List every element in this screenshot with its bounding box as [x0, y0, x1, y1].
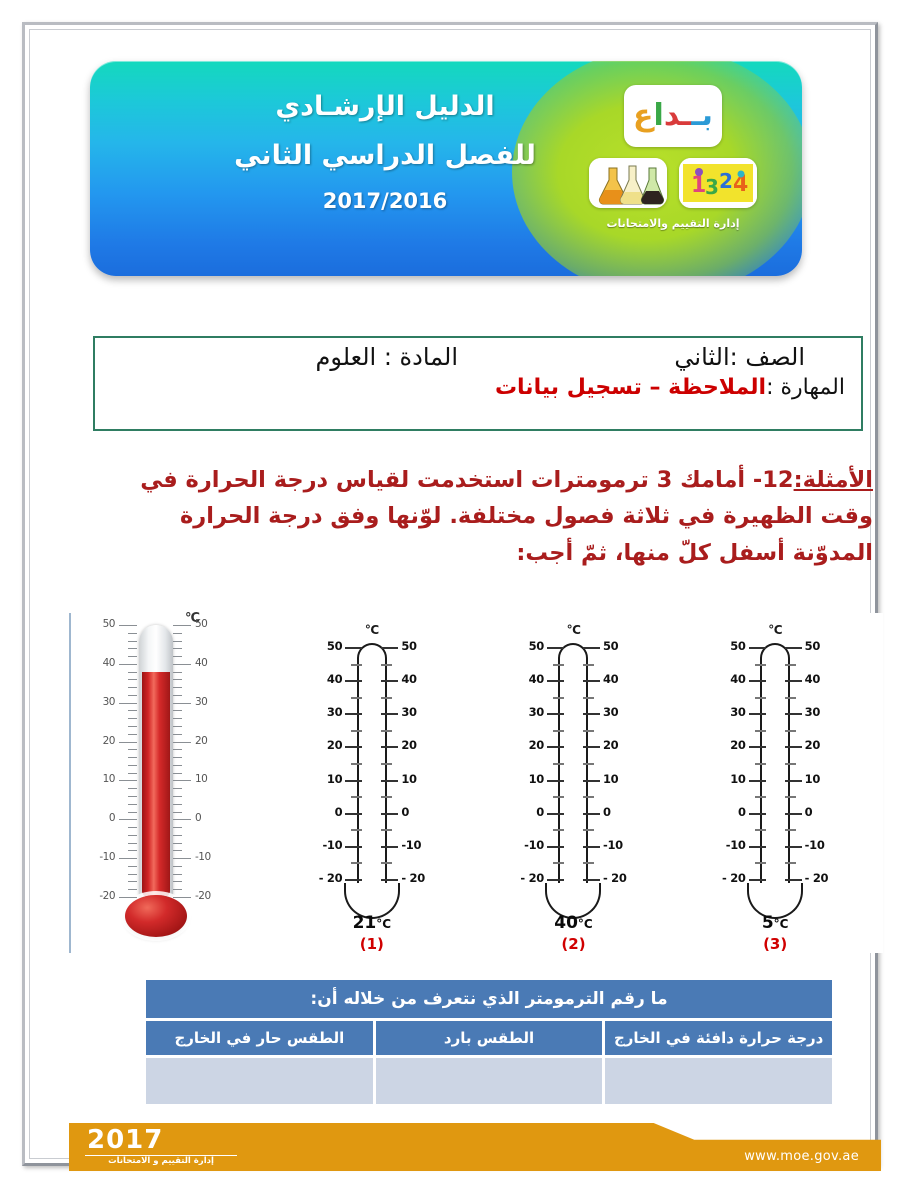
reference-tick [173, 672, 182, 673]
thermometer-tick-label: 20 [805, 738, 820, 752]
reference-tick [128, 804, 137, 805]
thermometer-tick-label: 20 [529, 738, 544, 752]
logo-tile-row: 1 3 2 4 [578, 158, 768, 208]
numbers-icon: 1 3 2 4 [679, 158, 757, 208]
thermometer-tick [583, 713, 600, 715]
thermometer-tick [547, 680, 564, 682]
thermometer-tick-label: 40 [327, 672, 342, 686]
answer-cell-warm[interactable] [605, 1058, 832, 1104]
thermometer-tick-label: 0 [536, 805, 544, 819]
thermometer-tick [345, 846, 362, 848]
reference-tick [173, 889, 182, 890]
thermometer-tick [583, 879, 600, 881]
reference-tick [173, 679, 182, 680]
reference-tick [128, 710, 137, 711]
reference-tick [173, 633, 182, 634]
thermometer-minor-tick [351, 697, 362, 699]
reference-tick [128, 889, 137, 890]
thermometer-minor-tick [755, 796, 766, 798]
thermometer-minor-tick [583, 796, 594, 798]
thermometer-2-scale-right: 50403020100-10- 20 [583, 647, 643, 879]
reference-tick-label: 30 [103, 696, 115, 708]
thermometer-tick-label: 10 [805, 772, 820, 786]
thermometer-tick [547, 746, 564, 748]
reference-tick-label: -20 [99, 890, 115, 902]
thermometer-tick [345, 879, 362, 881]
svg-text:3: 3 [705, 175, 719, 199]
thermometer-tick-label: -10 [401, 838, 421, 852]
thermometer-3: °C 50403020100-10- 20 50403020100-10- 20… [688, 621, 863, 951]
thermometer-3-unit: °C [768, 623, 782, 637]
reference-tick [128, 850, 137, 851]
reference-tick [173, 827, 182, 828]
thermometer-1-index: (1) [284, 935, 459, 953]
thermometer-tick [345, 746, 362, 748]
reference-tick [173, 656, 182, 657]
thermometer-tick [345, 647, 362, 649]
banner-dept-label: إدارة التقييم والامتحانات [578, 217, 768, 230]
reference-tick [128, 734, 137, 735]
thermometer-tick-label: - 20 [401, 871, 425, 885]
thermometer-tick [381, 647, 398, 649]
reference-tick [173, 664, 191, 665]
thermometer-2-scale-left: 50403020100-10- 20 [504, 647, 564, 879]
thermometer-tick-label: 10 [529, 772, 544, 786]
thermometer-tick-label: 20 [603, 738, 618, 752]
reference-tick [173, 804, 182, 805]
reference-tick [128, 835, 137, 836]
skill-row: المهارة :الملاحظة – تسجيل بيانات [95, 371, 861, 400]
reference-tick [128, 757, 137, 758]
reference-tick-label: 40 [195, 657, 207, 669]
thermometer-tick-label: 20 [401, 738, 416, 752]
thermometer-1-temp: 21°C [284, 913, 459, 933]
reference-tick [128, 812, 137, 813]
thermometer-tick-label: 10 [327, 772, 342, 786]
thermometer-tick [547, 846, 564, 848]
reference-tick [128, 874, 137, 875]
reference-tick [173, 881, 182, 882]
thermometer-tick-label: 30 [805, 705, 820, 719]
answer-table-header-row: درجة حرارة دافئة في الخارج الطقس بارد ال… [146, 1021, 832, 1055]
thermometer-tick-label: -10 [805, 838, 825, 852]
thermometer-minor-tick [755, 730, 766, 732]
footer-url[interactable]: www.moe.gov.ae [744, 1149, 859, 1164]
subject-label: المادة : العلوم [111, 343, 458, 371]
thermometer-tick-label: 30 [327, 705, 342, 719]
thermometer-tick-label: 20 [327, 738, 342, 752]
thermometer-minor-tick [553, 862, 564, 864]
reference-tick [173, 749, 182, 750]
banner-title-line1: الدليل الإرشـادي [150, 91, 620, 122]
thermometer-minor-tick [381, 796, 392, 798]
thermometer-figure: °C -20-1001020304050 -20-1001020304050 °… [69, 613, 883, 953]
reference-tick-label: 10 [195, 773, 207, 785]
thermometer-tick [583, 813, 600, 815]
thermometer-3-scale-left: 50403020100-10- 20 [706, 647, 766, 879]
thermometer-tick-label: 40 [730, 672, 745, 686]
thermometer-tick-label: -10 [726, 838, 746, 852]
reference-tick-label: 20 [103, 735, 115, 747]
thermometer-tick-label: 50 [529, 639, 544, 653]
thermometer-minor-tick [381, 664, 392, 666]
reference-tick-label: -10 [195, 851, 211, 863]
reference-tick [128, 796, 137, 797]
reference-tick [128, 788, 137, 789]
reference-tick [128, 648, 137, 649]
thermometer-minor-tick [553, 796, 564, 798]
reference-tick [173, 695, 182, 696]
reference-tick-label: 50 [195, 618, 207, 630]
thermometer-tick-label: 50 [805, 639, 820, 653]
thermometer-minor-tick [351, 862, 362, 864]
thermometer-minor-tick [381, 763, 392, 765]
thermometer-tick-label: 50 [603, 639, 618, 653]
thermometer-minor-tick [381, 697, 392, 699]
thermometer-tick-label: - 20 [603, 871, 627, 885]
thermometer-minor-tick [785, 697, 796, 699]
reference-tick [173, 812, 182, 813]
thermometer-tick-label: - 20 [319, 871, 343, 885]
reference-tube [139, 625, 173, 897]
thermometer-tick-label: 0 [738, 805, 746, 819]
thermometer-minor-tick [755, 664, 766, 666]
thermometer-tick-label: 30 [603, 705, 618, 719]
reference-tick [173, 742, 191, 743]
thermometer-minor-tick [785, 796, 796, 798]
thermometer-tick [749, 680, 766, 682]
reference-tick [173, 757, 182, 758]
thermometer-minor-tick [583, 829, 594, 831]
thermometer-tick [547, 713, 564, 715]
reference-tick [128, 843, 137, 844]
info-row-top: الصف :الثاني المادة : العلوم [95, 338, 861, 371]
thermometer-tick [785, 746, 802, 748]
reference-tick-label: 40 [103, 657, 115, 669]
thermometer-tick [785, 780, 802, 782]
thermometer-tick-label: 10 [730, 772, 745, 786]
reference-tick [173, 687, 182, 688]
thermometer-minor-tick [381, 862, 392, 864]
reference-tick [119, 625, 137, 626]
thermometer-tick [785, 846, 802, 848]
thermometer-tick [749, 780, 766, 782]
banner-year: 2017/2016 [150, 189, 620, 213]
thermometer-tick-label: 10 [603, 772, 618, 786]
thermometer-1-scale-left: 50403020100-10- 20 [302, 647, 362, 879]
question-block: الأمثلة:12- أمامك 3 ترمومترات استخدمت لق… [93, 462, 873, 571]
thermometer-tick [381, 813, 398, 815]
thermometer-3-index: (3) [688, 935, 863, 953]
thermometer-minor-tick [351, 796, 362, 798]
thermometer-minor-tick [583, 730, 594, 732]
thermometer-tick [547, 813, 564, 815]
thermometer-minor-tick [785, 730, 796, 732]
reference-tick [119, 703, 137, 704]
thermometer-1-scale-right: 50403020100-10- 20 [381, 647, 441, 879]
thermometer-tick [749, 813, 766, 815]
reference-tick [119, 780, 137, 781]
brand-logo-tile: بــداع [624, 85, 722, 147]
reference-tick-label: 20 [195, 735, 207, 747]
page-footer: 2017 إدارة التقييم و الامتحانات www.moe.… [69, 1123, 881, 1171]
reference-tick [173, 726, 182, 727]
thermometer-minor-tick [381, 829, 392, 831]
thermometer-minor-tick [583, 697, 594, 699]
thermometer-tick-label: -10 [322, 838, 342, 852]
reference-tick [173, 788, 182, 789]
reference-tick [173, 897, 191, 898]
thermometer-tick-label: 0 [805, 805, 813, 819]
thermometer-minor-tick [351, 730, 362, 732]
thermometer-tick-label: 0 [401, 805, 409, 819]
reference-tick [173, 648, 182, 649]
thermometer-tick-label: 50 [730, 639, 745, 653]
answer-table-title: ما رقم الترمومتر الذي نتعرف من خلاله أن: [146, 980, 832, 1018]
reference-tick [128, 672, 137, 673]
reference-tick [128, 866, 137, 867]
answer-table-input-row [146, 1058, 832, 1104]
thermometer-tick-label: 40 [603, 672, 618, 686]
reference-tick [128, 641, 137, 642]
worksheet-page: الدليل الإرشـادي للفصل الدراسي الثاني 20… [22, 22, 878, 1166]
thermometer-3-scale-right: 50403020100-10- 20 [785, 647, 845, 879]
thermometer-tick [345, 680, 362, 682]
reference-tick [119, 742, 137, 743]
reference-tick-label: -20 [195, 890, 211, 902]
thermometer-tick-label: 40 [401, 672, 416, 686]
skill-prefix: المهارة : [766, 375, 845, 400]
thermometer-tick [381, 680, 398, 682]
thermometer-tick [345, 713, 362, 715]
reference-tick [128, 749, 137, 750]
answer-cell-hot[interactable] [146, 1058, 373, 1104]
thermometer-tick [381, 780, 398, 782]
reference-tick [128, 695, 137, 696]
thermometer-tick [583, 746, 600, 748]
thermometer-minor-tick [785, 664, 796, 666]
thermometer-tick-label: 20 [730, 738, 745, 752]
thermometer-2-index: (2) [486, 935, 661, 953]
logo-group: بــداع [578, 85, 768, 230]
thermometer-tick-label: 30 [529, 705, 544, 719]
thermometer-tick [583, 647, 600, 649]
thermometer-tick-label: 10 [401, 772, 416, 786]
reference-tick [119, 897, 137, 898]
thermometer-tick [381, 879, 398, 881]
footer-dept-label: إدارة التقييم و الامتحانات [85, 1156, 237, 1166]
reference-tick [173, 780, 191, 781]
reference-scale-right: -20-1001020304050 [173, 625, 227, 897]
reference-tick [173, 843, 182, 844]
reference-tick-label: -10 [99, 851, 115, 863]
thermometer-tick [785, 713, 802, 715]
thermometer-2-temp: 40°C [486, 913, 661, 933]
reference-tick [173, 641, 182, 642]
reference-tick [173, 703, 191, 704]
answer-table-title-row: ما رقم الترمومتر الذي نتعرف من خلاله أن: [146, 980, 832, 1018]
reference-tick [119, 664, 137, 665]
reference-tick-label: 0 [109, 812, 115, 824]
thermometer-minor-tick [785, 763, 796, 765]
thermometer-tick-label: -10 [603, 838, 623, 852]
thermometer-minor-tick [583, 664, 594, 666]
thermometer-minor-tick [755, 763, 766, 765]
reference-tick [128, 656, 137, 657]
thermometer-tick [785, 647, 802, 649]
reference-tick [173, 765, 182, 766]
reference-tick [128, 765, 137, 766]
thermometer-tick [547, 780, 564, 782]
thermometer-tick [583, 780, 600, 782]
answer-header-hot: الطقس حار في الخارج [146, 1021, 373, 1055]
thermometer-tick-label: 0 [603, 805, 611, 819]
thermometer-row: °C 50403020100-10- 20 50403020100-10- 20… [271, 621, 876, 951]
thermometer-tick [547, 879, 564, 881]
thermometer-tick-label: - 20 [722, 871, 746, 885]
thermometer-2-unit: °C [567, 623, 581, 637]
svg-text:2: 2 [719, 169, 733, 193]
grade-label: الصف :الثاني [458, 343, 845, 371]
thermometer-tick-label: 50 [401, 639, 416, 653]
thermometer-tick-label: -10 [524, 838, 544, 852]
thermometer-3-temp: 5°C [688, 913, 863, 933]
thermometer-2: °C 50403020100-10- 20 50403020100-10- 20… [486, 621, 661, 951]
thermometer-1: °C 50403020100-10- 20 50403020100-10- 20… [284, 621, 459, 951]
thermometer-1-unit: °C [365, 623, 379, 637]
thermometer-tick [381, 746, 398, 748]
footer-year: 2017 [87, 1125, 163, 1155]
thermometer-tick [583, 846, 600, 848]
reference-tick [173, 710, 182, 711]
thermometer-tick [749, 879, 766, 881]
reference-tick [128, 687, 137, 688]
thermometer-tick [785, 813, 802, 815]
thermometer-tick [749, 713, 766, 715]
reference-tick [173, 850, 182, 851]
answer-header-cold: الطقس بارد [376, 1021, 603, 1055]
thermometer-tick [345, 813, 362, 815]
brand-logo-icon: بــداع [624, 85, 722, 147]
question-label: الأمثلة: [794, 467, 873, 493]
skill-value: الملاحظة – تسجيل بيانات [495, 375, 766, 400]
thermometer-minor-tick [351, 829, 362, 831]
reference-tick [128, 633, 137, 634]
thermometer-minor-tick [755, 829, 766, 831]
reference-tick [128, 679, 137, 680]
header-banner: الدليل الإرشـادي للفصل الدراسي الثاني 20… [90, 61, 802, 276]
reference-mercury [142, 672, 170, 897]
reference-tick [173, 625, 191, 626]
thermometer-tick [749, 647, 766, 649]
thermometer-minor-tick [381, 730, 392, 732]
reference-tick-label: 10 [103, 773, 115, 785]
reference-tick [119, 858, 137, 859]
thermometer-minor-tick [553, 664, 564, 666]
thermometer-tick [547, 647, 564, 649]
thermometer-tick [345, 780, 362, 782]
subject-info-box: الصف :الثاني المادة : العلوم المهارة :ال… [93, 336, 863, 431]
reference-tick [119, 819, 137, 820]
reference-tick-label: 30 [195, 696, 207, 708]
thermometer-tick-label: 30 [401, 705, 416, 719]
thermometer-tick [583, 680, 600, 682]
answer-header-warm: درجة حرارة دافئة في الخارج [605, 1021, 832, 1055]
thermometer-tick-label: 30 [730, 705, 745, 719]
reference-scale-left: -20-1001020304050 [83, 625, 137, 897]
thermometer-tick [785, 879, 802, 881]
reference-tick [173, 858, 191, 859]
thermometer-minor-tick [583, 862, 594, 864]
reference-tick [173, 796, 182, 797]
thermometer-tick [749, 846, 766, 848]
reference-tick [128, 773, 137, 774]
reference-tick [173, 866, 182, 867]
reference-tick [173, 734, 182, 735]
thermometer-tick-label: - 20 [520, 871, 544, 885]
thermometer-minor-tick [583, 763, 594, 765]
reference-tick [173, 819, 191, 820]
reference-tick [173, 835, 182, 836]
thermometer-tick-label: 40 [805, 672, 820, 686]
reference-tick [128, 726, 137, 727]
reference-tick-label: 0 [195, 812, 201, 824]
answer-table: ما رقم الترمومتر الذي نتعرف من خلاله أن:… [143, 977, 835, 1107]
answer-cell-cold[interactable] [376, 1058, 603, 1104]
reference-tick [173, 718, 182, 719]
thermometer-minor-tick [553, 829, 564, 831]
thermometer-tick [785, 680, 802, 682]
thermometer-minor-tick [553, 697, 564, 699]
flasks-icon [589, 158, 667, 208]
thermometer-minor-tick [553, 730, 564, 732]
thermometer-minor-tick [553, 763, 564, 765]
reference-tick [128, 827, 137, 828]
banner-title-line2: للفصل الدراسي الثاني [150, 140, 620, 171]
thermometer-tick-label: - 20 [805, 871, 829, 885]
reference-tick [173, 773, 182, 774]
reference-thermometer: °C -20-1001020304050 -20-1001020304050 [81, 617, 256, 947]
thermometer-minor-tick [755, 697, 766, 699]
thermometer-minor-tick [755, 862, 766, 864]
thermometer-minor-tick [351, 664, 362, 666]
thermometer-tick [749, 746, 766, 748]
reference-tick-label: 50 [103, 618, 115, 630]
thermometer-minor-tick [785, 862, 796, 864]
thermometer-tick-label: 40 [529, 672, 544, 686]
thermometer-minor-tick [785, 829, 796, 831]
reference-tick [173, 874, 182, 875]
question-text: 12- أمامك 3 ترمومترات استخدمت لقياس درجة… [140, 467, 873, 566]
reference-tick [128, 881, 137, 882]
thermometer-tick [381, 846, 398, 848]
thermometer-tick-label: 50 [327, 639, 342, 653]
reference-bulb [125, 895, 187, 937]
banner-title-group: الدليل الإرشـادي للفصل الدراسي الثاني 20… [150, 91, 620, 213]
thermometer-tick [381, 713, 398, 715]
thermometer-minor-tick [351, 763, 362, 765]
thermometer-tick-label: 0 [335, 805, 343, 819]
reference-tick [128, 718, 137, 719]
